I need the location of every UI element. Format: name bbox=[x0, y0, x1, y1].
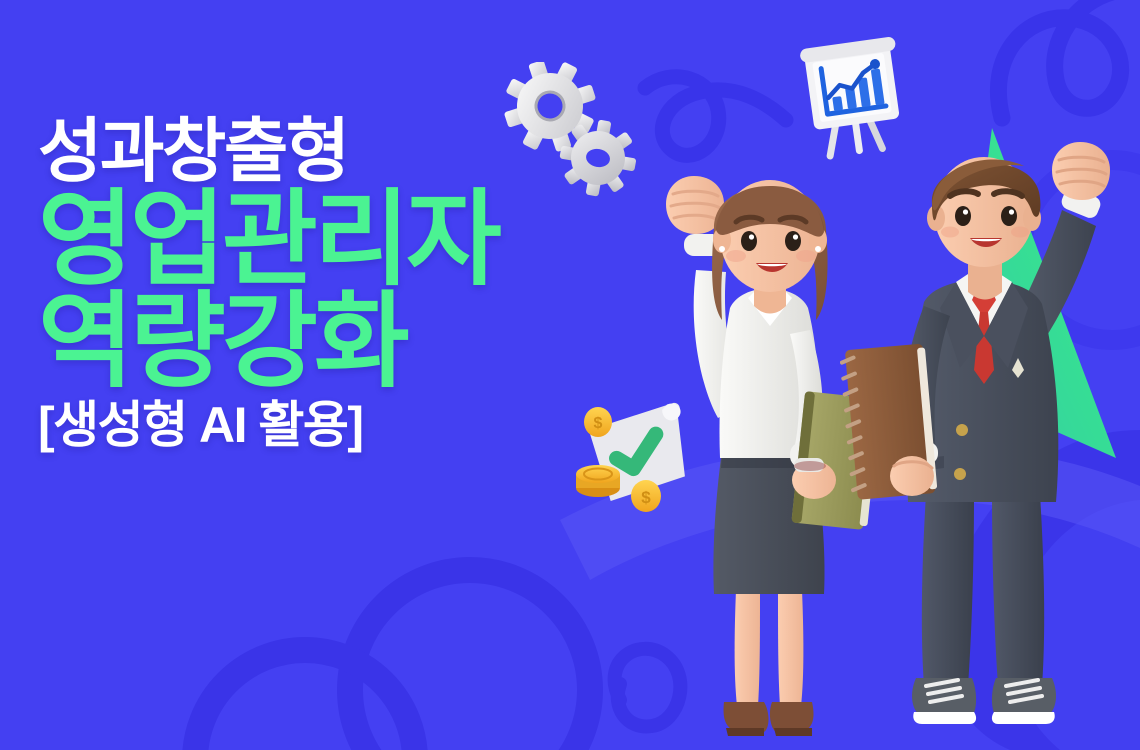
man-shoes bbox=[912, 678, 1056, 724]
jacket-button bbox=[954, 468, 966, 480]
man-trousers bbox=[922, 494, 1044, 686]
man-eye bbox=[955, 206, 971, 226]
businessman-character bbox=[840, 130, 1140, 750]
coin-stack bbox=[576, 465, 620, 497]
promo-banner: 성과창출형 영업관리자 역량강화 [생성형 AI 활용] bbox=[0, 0, 1140, 750]
woman-eye bbox=[741, 231, 757, 251]
headline-line-2: 영업관리자 bbox=[38, 191, 658, 291]
headline-line-3: 역량강화 bbox=[38, 293, 658, 393]
woman-eye bbox=[785, 231, 801, 251]
jacket-button bbox=[956, 424, 968, 436]
man-hand bbox=[890, 456, 934, 496]
headline-block: 성과창출형 영업관리자 역량강화 [생성형 AI 활용] bbox=[38, 118, 658, 449]
man-eye bbox=[1001, 206, 1017, 226]
woman-shoes bbox=[724, 702, 814, 736]
headline-line-4: [생성형 AI 활용] bbox=[38, 401, 658, 449]
headline-line-1: 성과창출형 bbox=[38, 118, 658, 185]
woman-legs bbox=[735, 590, 804, 706]
